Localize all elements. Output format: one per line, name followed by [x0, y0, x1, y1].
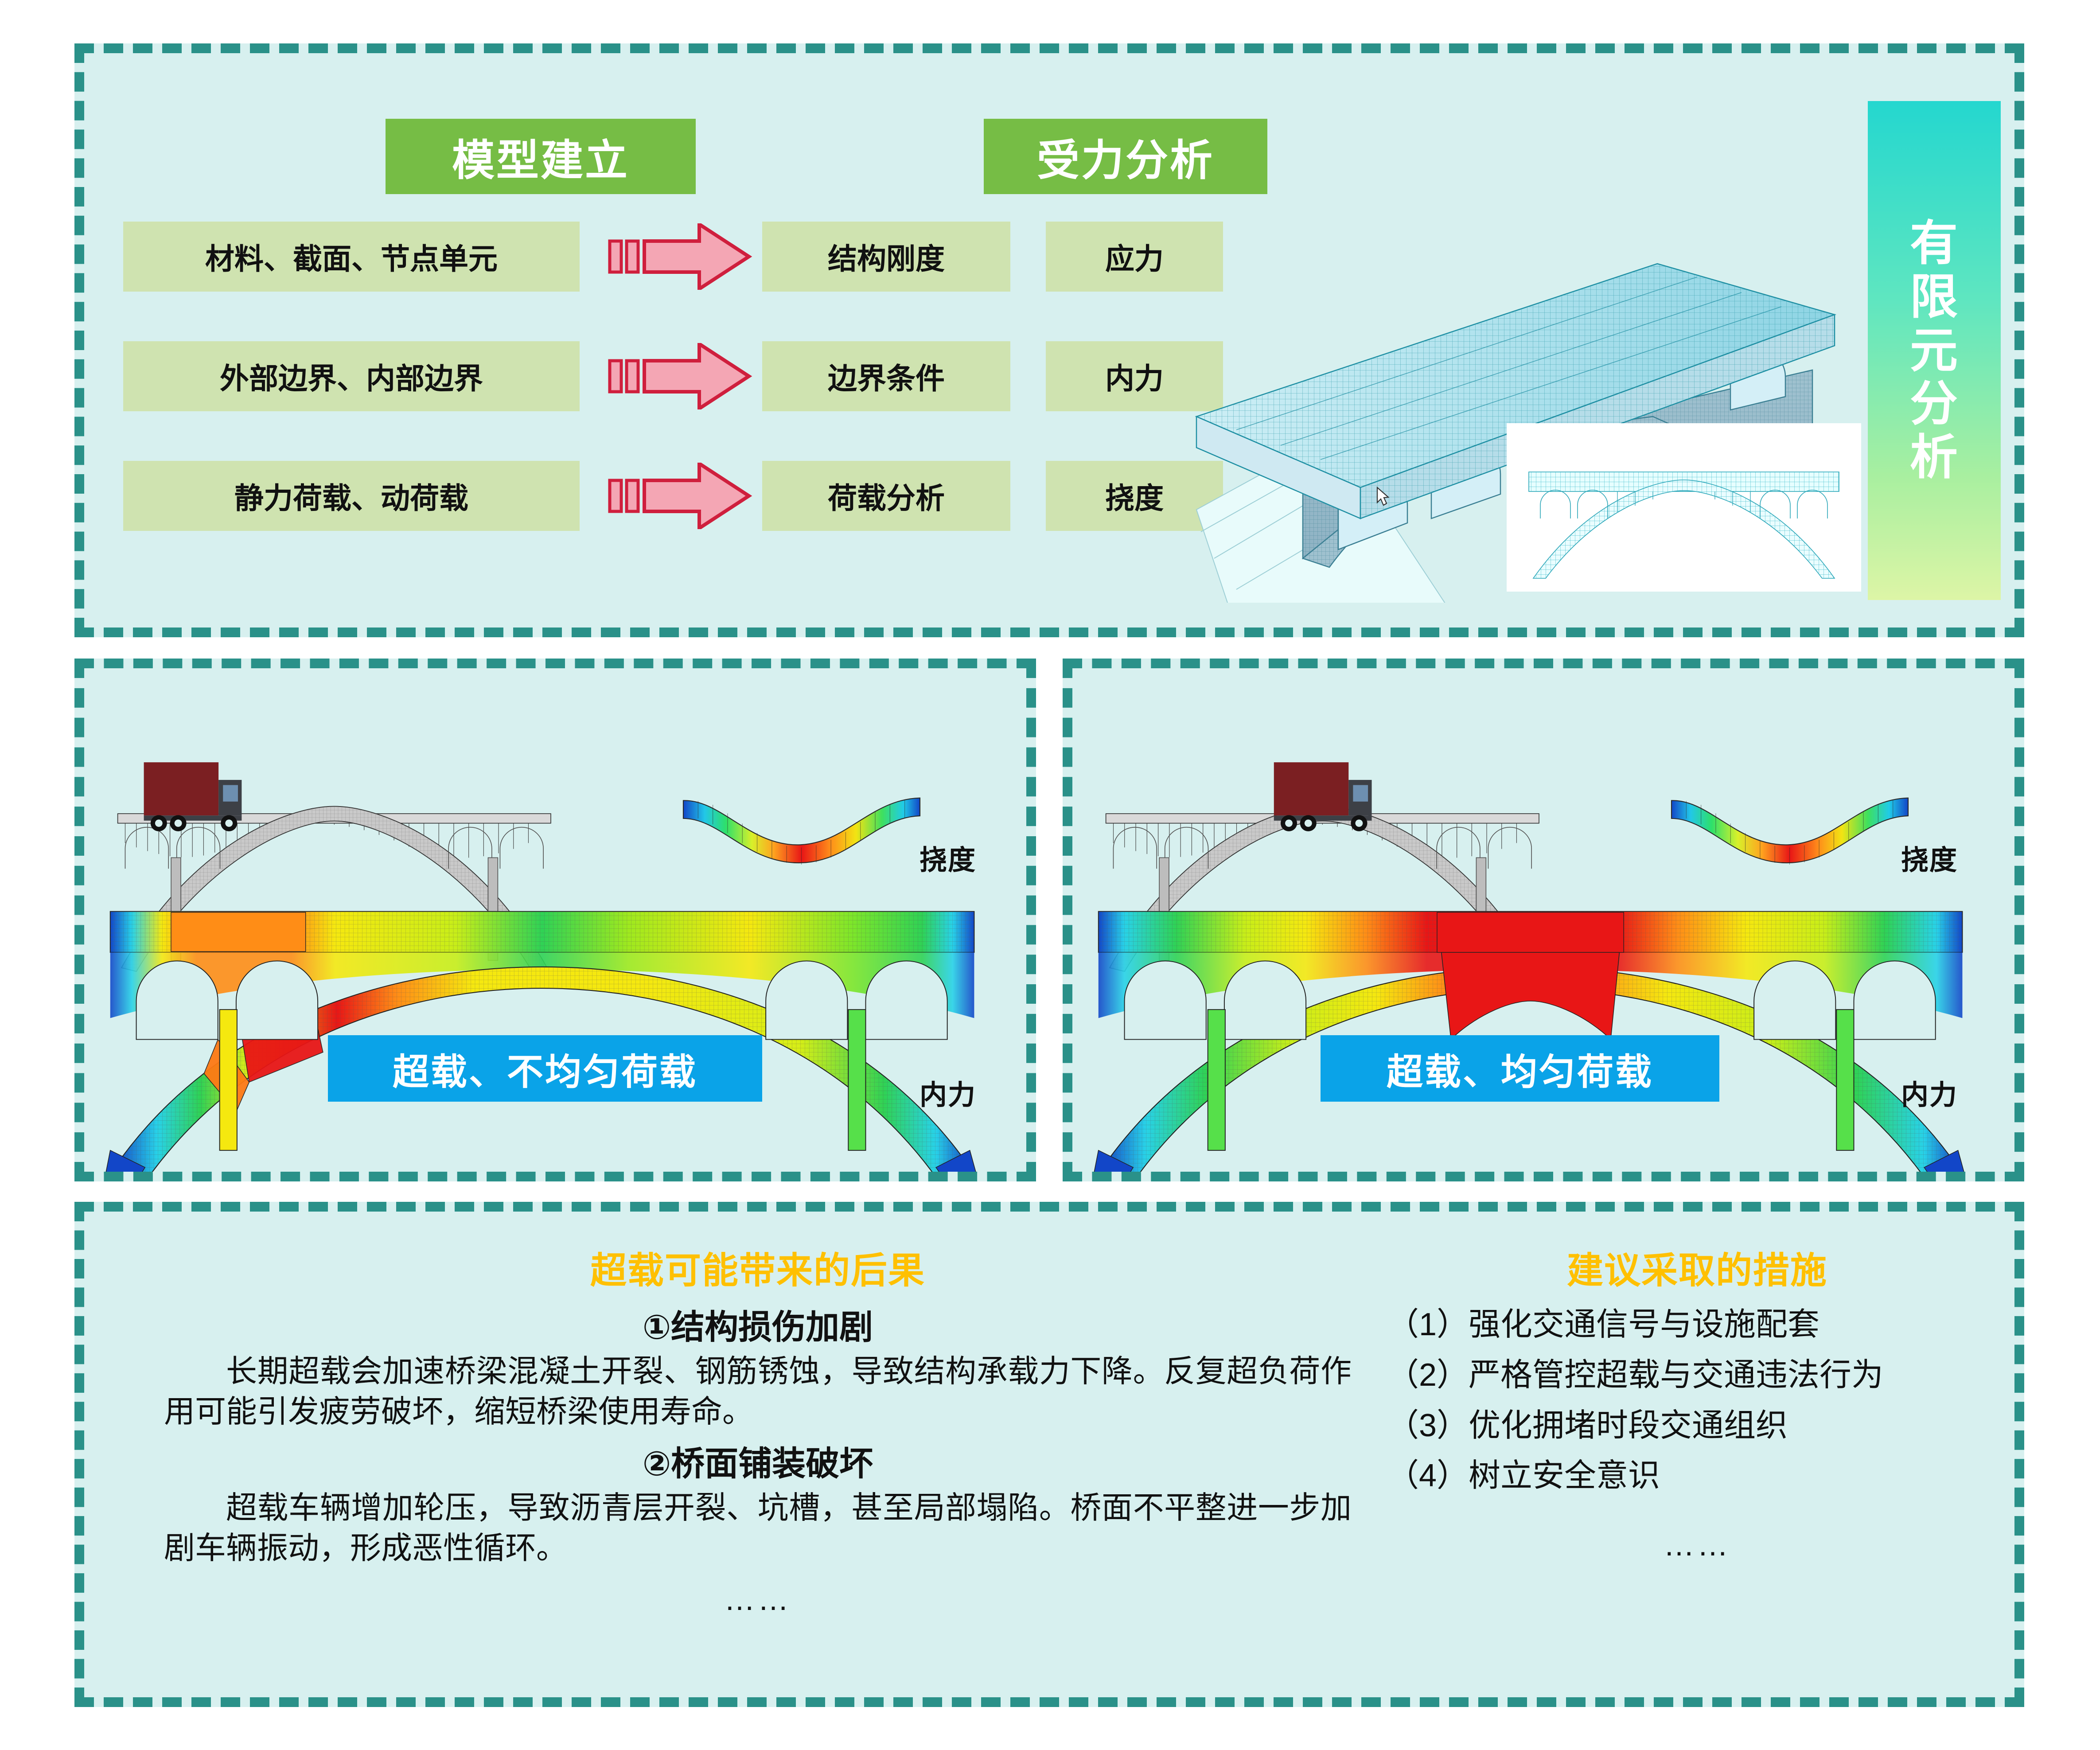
- badge-uneven-load: 超载、不均匀荷载: [328, 1035, 762, 1102]
- label-internal-force-left: 内力: [919, 1072, 976, 1112]
- vtitle-char: 有: [1910, 217, 1959, 270]
- fem-2d-elevation-inset: [1507, 423, 1861, 592]
- output-cell-row1: 结构刚度: [762, 222, 1010, 292]
- consequence-text-2: 超载车辆增加轮压，导致沥青层开裂、坑槽，甚至局部塌陷。桥面不平整进一步加剧车辆振…: [164, 1488, 1352, 1568]
- measures-column: 建议采取的措施 （1）强化交通信号与设施配套 （2）严格管控超载与交通违法行为 …: [1387, 1229, 2007, 1563]
- even-load-panel: [1063, 659, 2024, 1181]
- right-arrow-icon: [606, 343, 752, 409]
- output-cell-row2: 边界条件: [762, 341, 1010, 411]
- input-cell-row2: 外部边界、内部边界: [123, 341, 580, 411]
- output-cell-row3: 荷载分析: [762, 461, 1010, 531]
- measure-item-3: （3）优化拥堵时段交通组织: [1387, 1401, 2007, 1451]
- consequence-title-2: ②桥面铺装破坏: [164, 1436, 1352, 1485]
- badge-even-load: 超载、均匀荷载: [1321, 1035, 1719, 1102]
- consequence-title-1: ①结构损伤加剧: [164, 1300, 1352, 1349]
- badge-model-building: 模型建立: [386, 119, 696, 194]
- input-cell-row3: 静力荷载、动荷载: [123, 461, 580, 531]
- measure-item-2: （2）严格管控超载与交通违法行为: [1387, 1350, 2007, 1401]
- poster-root: 模型建立 受力分析 材料、截面、节点单元 结构刚度 应力 外部边界、内部边界 边…: [0, 0, 2100, 1750]
- label-deflection-left: 挠度: [919, 838, 976, 877]
- vtitle-char: 分: [1910, 377, 1959, 431]
- consequences-heading: 超载可能带来的后果: [164, 1241, 1352, 1294]
- vtitle-char: 限: [1910, 270, 1959, 324]
- consequences-column: 超载可能带来的后果 ①结构损伤加剧 长期超载会加速桥梁混凝土开裂、钢筋锈蚀，导致…: [164, 1229, 1352, 1617]
- uneven-load-panel: [74, 659, 1036, 1181]
- consequences-ellipsis: ……: [164, 1582, 1352, 1617]
- measure-item-1: （1）强化交通信号与设施配套: [1387, 1300, 2007, 1350]
- right-arrow-icon: [606, 223, 752, 290]
- measures-ellipsis: ……: [1387, 1527, 2007, 1563]
- input-cell-row1: 材料、截面、节点单元: [123, 222, 580, 292]
- consequence-text-1: 长期超载会加速桥梁混凝土开裂、钢筋锈蚀，导致结构承载力下降。反复超负荷作用可能引…: [164, 1351, 1352, 1432]
- vtitle-char: 元: [1910, 324, 1959, 378]
- measures-heading: 建议采取的措施: [1387, 1241, 2007, 1294]
- vtitle-char: 析: [1910, 431, 1959, 484]
- measure-item-4: （4）树立安全意识: [1387, 1451, 2007, 1501]
- label-internal-force-right: 内力: [1901, 1072, 1958, 1112]
- label-deflection-right: 挠度: [1901, 838, 1958, 877]
- vertical-title-fem-analysis: 有 限 元 分 析: [1868, 101, 2001, 600]
- right-arrow-icon: [606, 463, 752, 529]
- conclusions-panel: 超载可能带来的后果 ①结构损伤加剧 长期超载会加速桥梁混凝土开裂、钢筋锈蚀，导致…: [74, 1202, 2024, 1707]
